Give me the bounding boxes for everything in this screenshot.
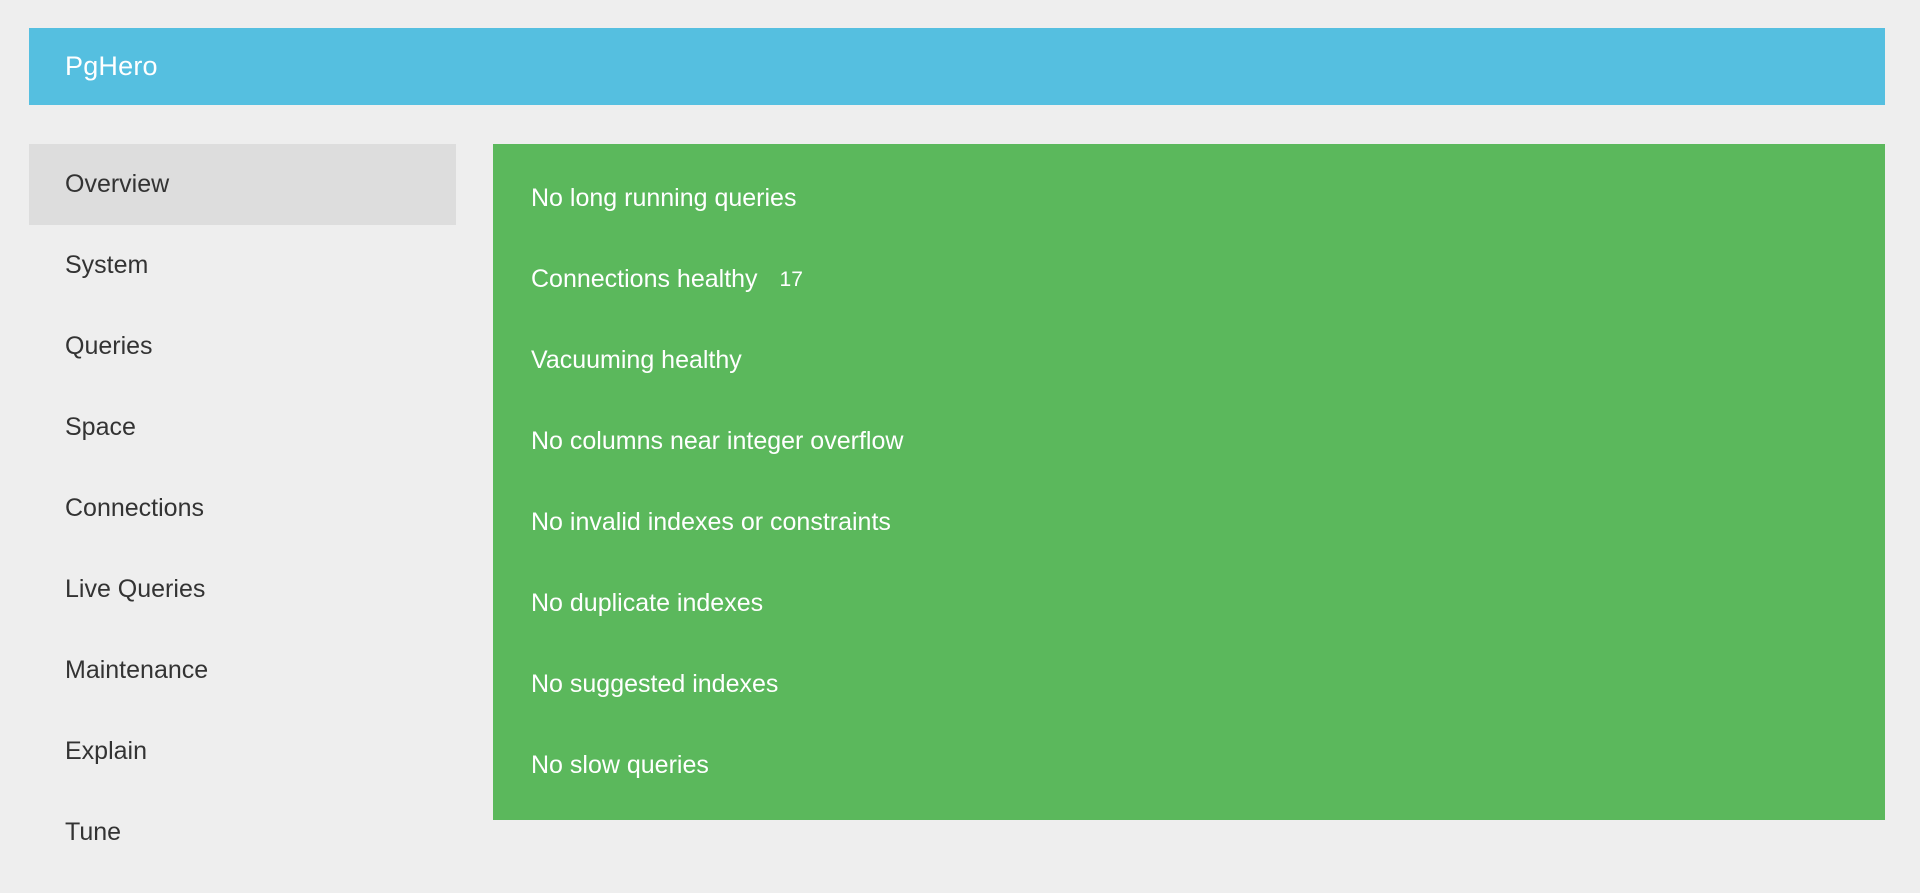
sidebar-item-maintenance[interactable]: Maintenance xyxy=(29,630,456,711)
brand-link[interactable]: PgHero xyxy=(29,53,158,80)
status-count-badge: 17 xyxy=(780,269,803,290)
status-row[interactable]: Connections healthy17 xyxy=(493,239,1885,320)
sidebar-item-tune[interactable]: Tune xyxy=(29,792,456,873)
status-row[interactable]: No long running queries xyxy=(493,158,1885,239)
sidebar-item-explain[interactable]: Explain xyxy=(29,711,456,792)
sidebar-item-overview[interactable]: Overview xyxy=(29,144,456,225)
sidebar-item-live-queries[interactable]: Live Queries xyxy=(29,549,456,630)
sidebar-item-queries[interactable]: Queries xyxy=(29,306,456,387)
sidebar-item-system[interactable]: System xyxy=(29,225,456,306)
status-row[interactable]: No slow queries xyxy=(493,725,1885,806)
status-label: No columns near integer overflow xyxy=(531,429,903,454)
top-navbar: PgHero xyxy=(29,28,1885,105)
status-label: No slow queries xyxy=(531,753,709,778)
status-row[interactable]: No suggested indexes xyxy=(493,644,1885,725)
status-row[interactable]: No duplicate indexes xyxy=(493,563,1885,644)
status-label: No invalid indexes or constraints xyxy=(531,510,891,535)
status-label: Connections healthy xyxy=(531,267,758,292)
sidebar-item-connections[interactable]: Connections xyxy=(29,468,456,549)
status-row[interactable]: Vacuuming healthy xyxy=(493,320,1885,401)
content-row: OverviewSystemQueriesSpaceConnectionsLiv… xyxy=(0,144,1920,893)
status-label: No long running queries xyxy=(531,186,796,211)
sidebar-item-space[interactable]: Space xyxy=(29,387,456,468)
status-label: Vacuuming healthy xyxy=(531,348,742,373)
app-root: PgHero OverviewSystemQueriesSpaceConnect… xyxy=(0,0,1920,893)
status-panel-healthy: No long running queriesConnections healt… xyxy=(493,144,1885,820)
status-label: No suggested indexes xyxy=(531,672,778,697)
status-row[interactable]: No invalid indexes or constraints xyxy=(493,482,1885,563)
status-label: No duplicate indexes xyxy=(531,591,763,616)
sidebar-nav: OverviewSystemQueriesSpaceConnectionsLiv… xyxy=(29,144,456,873)
status-row[interactable]: No columns near integer overflow xyxy=(493,401,1885,482)
